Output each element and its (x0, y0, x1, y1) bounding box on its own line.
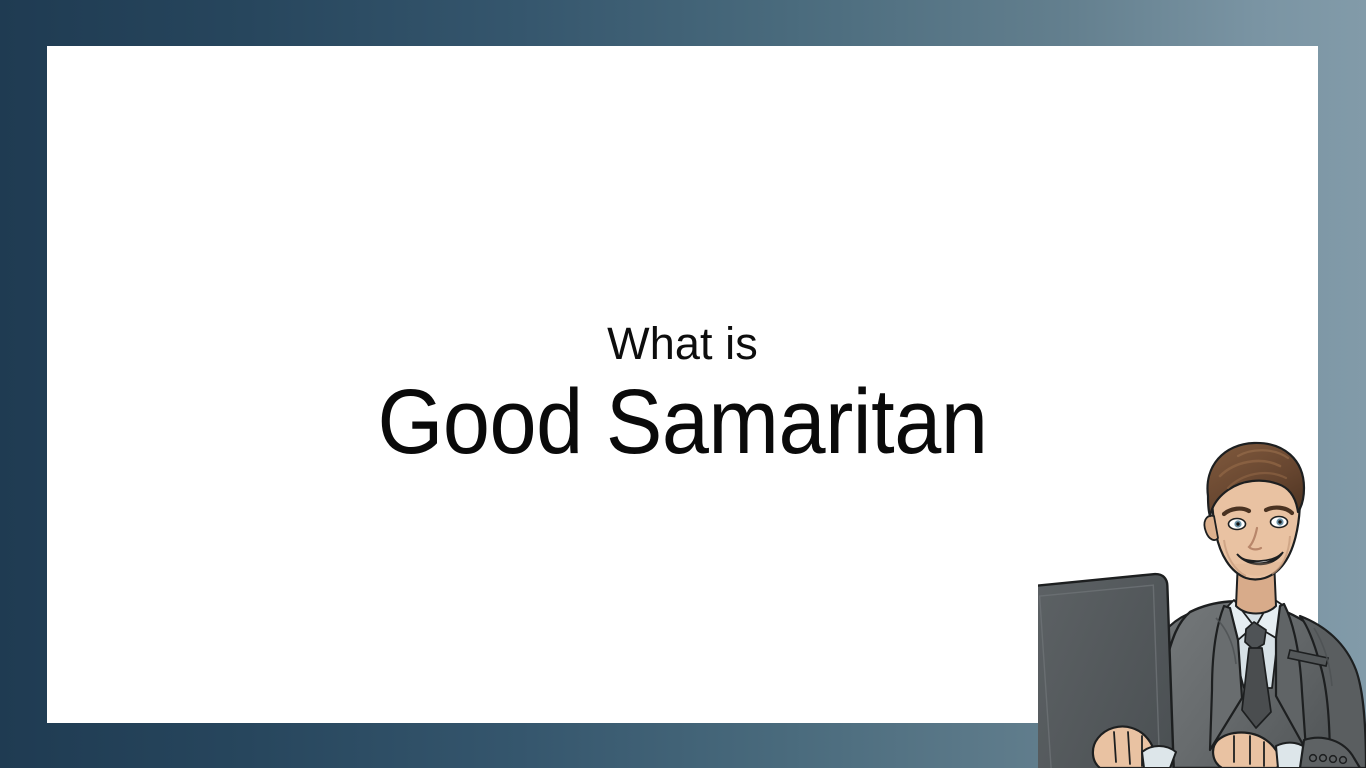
page-title: Good Samaritan (98, 370, 1267, 474)
content-panel: What is Good Samaritan (47, 46, 1318, 723)
slide-canvas: What is Good Samaritan (0, 0, 1366, 768)
eyebrow-text: What is (47, 318, 1318, 370)
hand-left (1093, 726, 1156, 768)
jacket-sleeve-right (1300, 738, 1360, 768)
shirt-cuff-left (1142, 746, 1176, 768)
sleeve-buttons (1310, 755, 1347, 764)
hand-right (1213, 733, 1280, 768)
shirt-cuff-right (1276, 743, 1310, 768)
